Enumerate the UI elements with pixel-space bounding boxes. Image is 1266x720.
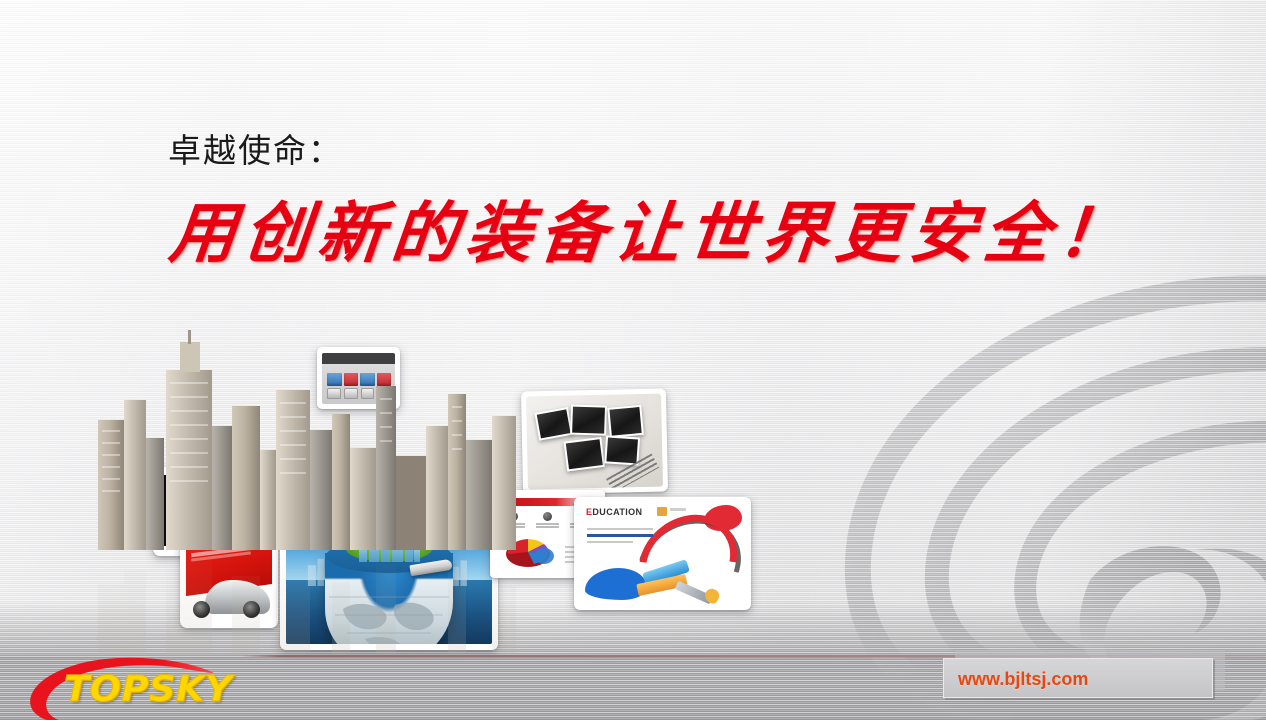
page-subtitle: 卓越使命： [168, 124, 343, 172]
badge-label [670, 508, 686, 511]
city-skyline-reflection [88, 549, 518, 654]
website-url-text[interactable]: www.bjltsj.com [958, 669, 1088, 690]
education-card-body-text [587, 528, 653, 547]
city-skyline-image [88, 330, 518, 550]
website-url-box[interactable]: www.bjltsj.com [943, 658, 1213, 698]
list-item: EDUCATION [574, 497, 751, 610]
image-collage: EDUCATION [0, 0, 1266, 720]
photo-collage-card [526, 394, 663, 490]
education-card-title: EDUCATION [586, 507, 642, 517]
topsky-logo: TOPSKY [18, 655, 233, 720]
education-template-card: EDUCATION [579, 502, 746, 605]
page-title: 用创新的装备让世界更安全！ [166, 198, 1103, 269]
logo-wordmark: TOPSKY [64, 669, 232, 710]
list-item [521, 388, 668, 494]
presentation-slide: EDUCATION 卓越使命： 用创新的装备让世界更安全！ [0, 0, 1266, 720]
badge-icon [657, 507, 667, 516]
